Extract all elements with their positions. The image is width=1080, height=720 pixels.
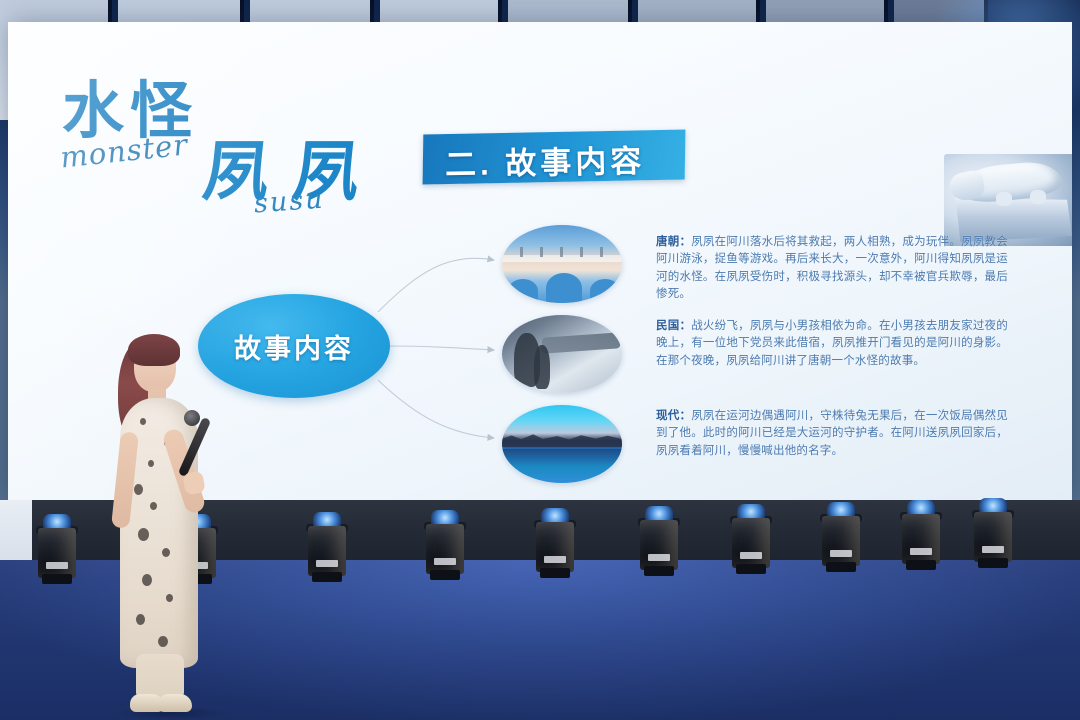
story-item-modern: 现代：夙夙在运河边偶遇阿川，守株待兔无果后，在一次饭局偶然见到了他。此时的阿川已… <box>656 408 1008 460</box>
modern-canal-night-view-photo <box>502 405 622 483</box>
conference-stage-scene: 水怪 夙夙 monster susu 二. 故事内容 <box>0 0 1080 720</box>
section-title-text: 二. 故事内容 <box>445 135 696 185</box>
logo-en-bottom: susu <box>253 184 325 220</box>
stage-light <box>36 512 78 586</box>
story-body-republic: 战火纷飞，夙夙与小男孩相依为命。在小男孩去朋友家过夜的晚上，有一位地下党员来此借… <box>656 320 1008 367</box>
stage-light <box>534 506 576 580</box>
stage-light <box>306 510 348 584</box>
ancient-arched-stone-bridge-photo <box>502 225 622 303</box>
microphone-head <box>184 410 200 426</box>
stage-light <box>730 502 772 576</box>
story-lead-modern: 现代： <box>656 410 691 422</box>
story-body-modern: 夙夙在运河边偶遇阿川，守株待兔无果后，在一次饭局偶然见到了他。此时的阿川已经是大… <box>656 410 1008 457</box>
wartime-historical-scene-photo <box>502 315 622 393</box>
story-item-republic: 民国：战火纷飞，夙夙与小男孩相依为命。在小男孩去朋友家过夜的晚上，有一位地下党员… <box>656 318 1008 370</box>
hair-top <box>128 334 180 366</box>
shoe <box>158 694 192 712</box>
hand <box>182 470 206 495</box>
brand-logo: 水怪 夙夙 monster susu <box>54 56 394 196</box>
story-item-tang: 唐朝：夙夙在阿川落水后将其救起，两人相熟，成为玩伴。夙夙教会阿川游泳，捉鱼等游戏… <box>656 234 1008 304</box>
stone-water-beast-relic-photo <box>944 154 1072 246</box>
story-lead-republic: 民国： <box>656 320 691 332</box>
story-lead-tang: 唐朝： <box>656 236 691 248</box>
diagram-hub-label: 故事内容 <box>234 327 354 366</box>
stage-light <box>972 496 1014 570</box>
stage-light <box>424 508 466 582</box>
stage-light <box>820 500 862 574</box>
stage-light <box>900 498 942 572</box>
story-body-tang: 夙夙在阿川落水后将其救起，两人相熟，成为玩伴。夙夙教会阿川游泳，捉鱼等游戏。再后… <box>656 236 1008 300</box>
stage-light <box>638 504 680 578</box>
female-presenter <box>96 332 236 720</box>
